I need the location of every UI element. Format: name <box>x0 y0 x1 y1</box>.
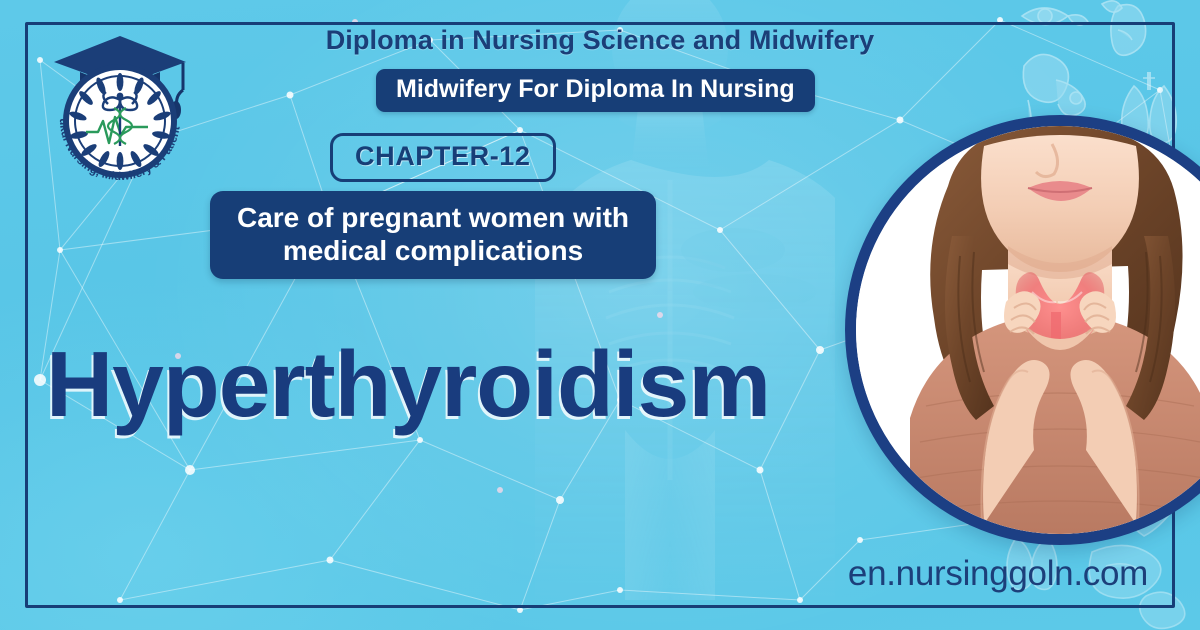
program-deck: Diploma in Nursing Science and Midwifery <box>0 25 1200 56</box>
page-title: Hyperthyroidism <box>46 338 770 431</box>
website-url: en.nursinggoln.com <box>848 554 1148 594</box>
chapter-badge: CHAPTER-12 <box>330 133 556 182</box>
topic-pill: Care of pregnant women with medical comp… <box>210 191 656 279</box>
program-pill: Midwifery For Diploma In Nursing <box>376 69 815 112</box>
course-banner: Gurukul Nursing, Midwifery & Patient Car… <box>0 0 1200 630</box>
thyroid-illustration <box>856 126 1200 534</box>
